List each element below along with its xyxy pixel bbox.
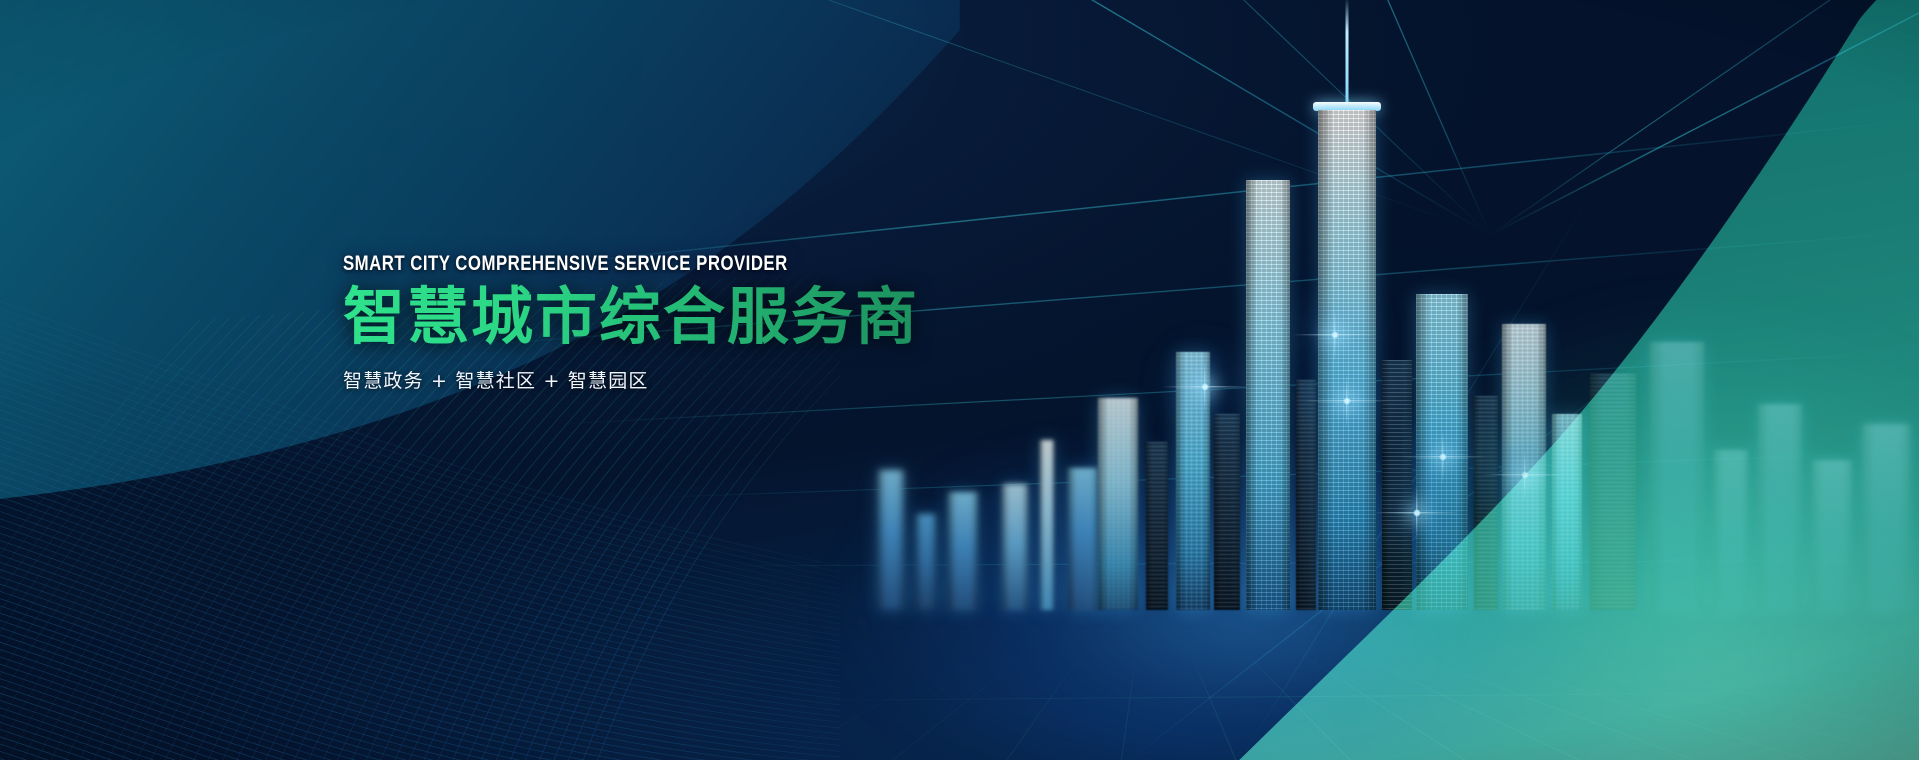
- building-bar-6: [1068, 468, 1098, 610]
- tower-spire-antenna: [1346, 0, 1349, 110]
- building-left-shade: [948, 492, 956, 610]
- building-right-shade: [971, 492, 978, 610]
- headline-copy-block: SMART CITY COMPREHENSIVE SERVICE PROVIDE…: [343, 252, 1103, 393]
- building-dark-1: [1146, 442, 1168, 610]
- building-left-shade: [916, 514, 921, 610]
- lens-flare-5: [1200, 382, 1210, 392]
- smart-city-hero-banner: SMART CITY COMPREHENSIVE SERVICE PROVIDE…: [0, 0, 1919, 760]
- building-bar-3: [948, 492, 978, 610]
- building-left-shade: [1068, 468, 1076, 610]
- building-left-shade: [878, 470, 885, 610]
- building-bar-2: [916, 514, 936, 610]
- building-bar-5: [1040, 440, 1054, 610]
- building-right-shade: [1163, 442, 1168, 610]
- subtitle-services: 智慧政务 + 智慧社区 + 智慧园区: [343, 366, 1103, 393]
- building-right-shade: [1091, 468, 1098, 610]
- building-left-shade: [1098, 398, 1108, 610]
- building-right-shade: [898, 470, 904, 610]
- building-left-shade: [1146, 442, 1152, 610]
- building-tower-a: [1098, 398, 1138, 610]
- page-title: 智慧城市综合服务商: [343, 284, 1103, 350]
- building-bar-1: [878, 470, 904, 610]
- building-right-shade: [1051, 440, 1054, 610]
- building-left-shade: [1040, 440, 1044, 610]
- building-bar-4: [1002, 484, 1028, 610]
- building-right-shade: [1129, 398, 1138, 610]
- building-left-shade: [1176, 352, 1185, 610]
- building-dark-2: [1214, 414, 1240, 610]
- building-right-shade: [1022, 484, 1028, 610]
- building-right-shade: [932, 514, 936, 610]
- building-right-shade: [1234, 414, 1240, 610]
- building-left-shade: [1246, 180, 1257, 610]
- building-left-shade: [1214, 414, 1221, 610]
- building-left-shade: [1002, 484, 1009, 610]
- eyebrow-tagline: SMART CITY COMPREHENSIVE SERVICE PROVIDE…: [343, 252, 951, 276]
